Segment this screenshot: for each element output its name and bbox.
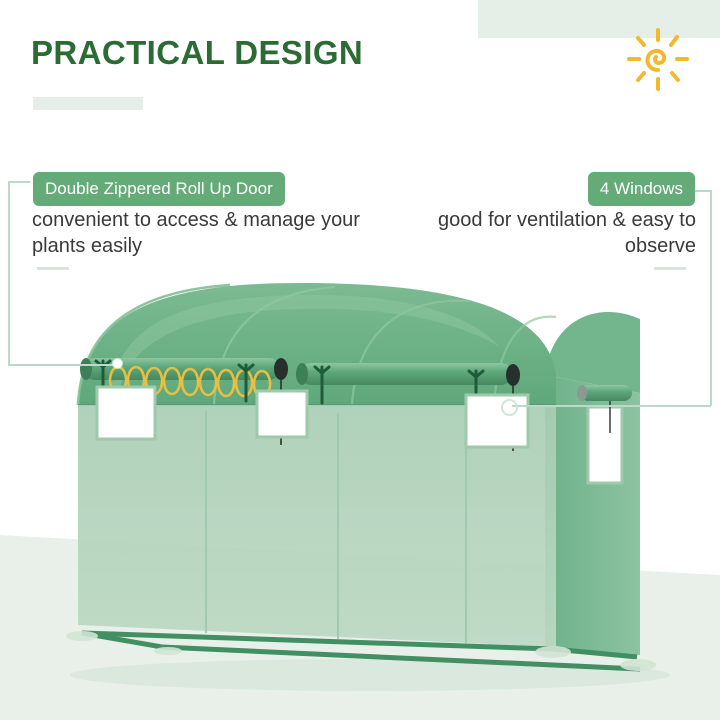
- callout-text-left: convenient to access & manage your plant…: [32, 208, 362, 259]
- left-marker-dot: [113, 359, 122, 368]
- right-marker-ring: [501, 399, 518, 416]
- greenhouse-illustration: [0, 255, 720, 700]
- sun-spiral-icon: [617, 18, 699, 100]
- page-title: PRACTICAL DESIGN: [31, 36, 363, 69]
- front-window-3: [466, 395, 528, 447]
- callout-text-right: good for ventilation & easy to observe: [436, 208, 696, 259]
- callout-badge-right[interactable]: 4 Windows: [588, 172, 695, 206]
- infographic-canvas: PRACTICAL DESIGN Double Zippered Roll Up…: [0, 0, 720, 720]
- title-accent-bar: [33, 97, 143, 110]
- right-connector-vertical: [710, 190, 712, 406]
- right-connector-horizontal: [512, 405, 711, 407]
- callout-tick-right: [654, 267, 686, 270]
- callout-badge-left[interactable]: Double Zippered Roll Up Door: [33, 172, 285, 206]
- callout-tick-left: [37, 267, 69, 270]
- left-connector-stub: [8, 181, 30, 183]
- front-window-2: [257, 391, 307, 437]
- front-window-1: [97, 387, 155, 439]
- left-connector-horizontal: [8, 364, 120, 366]
- left-connector-vertical: [8, 181, 10, 365]
